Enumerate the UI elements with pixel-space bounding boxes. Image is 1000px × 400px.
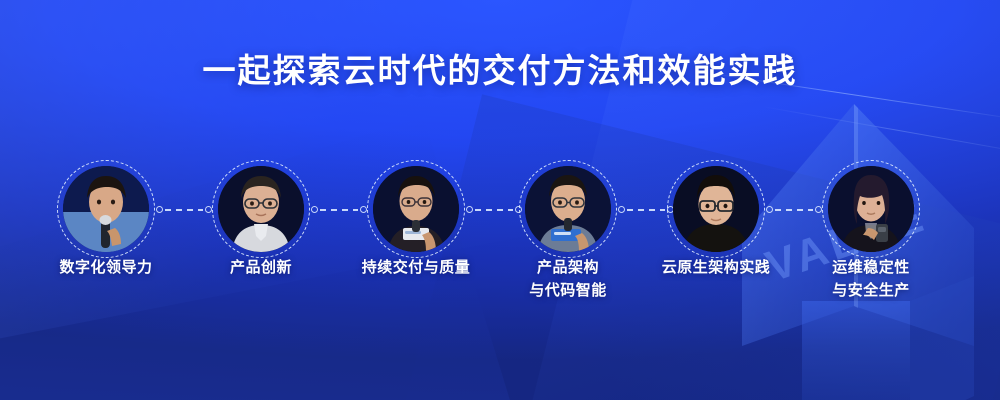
speaker-node-2[interactable] <box>212 160 310 258</box>
speaker-label-5: 云原生架构实践 <box>626 256 806 279</box>
speaker-node-4[interactable] <box>519 160 617 258</box>
dashed-ring-4 <box>519 160 617 258</box>
connector-dashed-line <box>165 209 203 211</box>
connector-3-4 <box>466 205 522 214</box>
connector-endpoint-dot <box>466 206 473 213</box>
dashed-ring-2 <box>212 160 310 258</box>
connector-endpoint-dot <box>618 206 625 213</box>
speaker-track <box>0 160 1000 260</box>
speaker-node-5[interactable] <box>667 160 765 258</box>
connector-4-5 <box>618 205 674 214</box>
connector-dashed-line <box>627 209 665 211</box>
connector-endpoint-dot <box>205 206 212 213</box>
connector-endpoint-dot <box>766 206 773 213</box>
connector-2-3 <box>311 205 367 214</box>
dashed-ring-3 <box>367 160 465 258</box>
connector-5-6 <box>766 205 822 214</box>
speaker-node-3[interactable] <box>367 160 465 258</box>
dashed-ring-6 <box>822 160 920 258</box>
speaker-node-6[interactable] <box>822 160 920 258</box>
background-light-streak <box>762 106 1000 159</box>
dashed-ring-1 <box>57 160 155 258</box>
connector-1-2 <box>156 205 212 214</box>
speaker-node-1[interactable] <box>57 160 155 258</box>
connector-endpoint-dot <box>311 206 318 213</box>
page-title: 一起探索云时代的交付方法和效能实践 <box>0 44 1000 92</box>
connector-endpoint-dot <box>815 206 822 213</box>
connector-endpoint-dot <box>156 206 163 213</box>
connector-dashed-line <box>320 209 358 211</box>
speaker-label-2: 产品创新 <box>171 256 351 279</box>
dashed-ring-5 <box>667 160 765 258</box>
connector-dashed-line <box>775 209 813 211</box>
speaker-label-1: 数字化领导力 <box>16 256 196 279</box>
speaker-label-6: 运维稳定性 与安全生产 <box>781 256 961 302</box>
connector-dashed-line <box>475 209 513 211</box>
connector-endpoint-dot <box>360 206 367 213</box>
banner-stage: VALUE 一起探索云时代的交付方法和效能实践 <box>0 0 1000 400</box>
